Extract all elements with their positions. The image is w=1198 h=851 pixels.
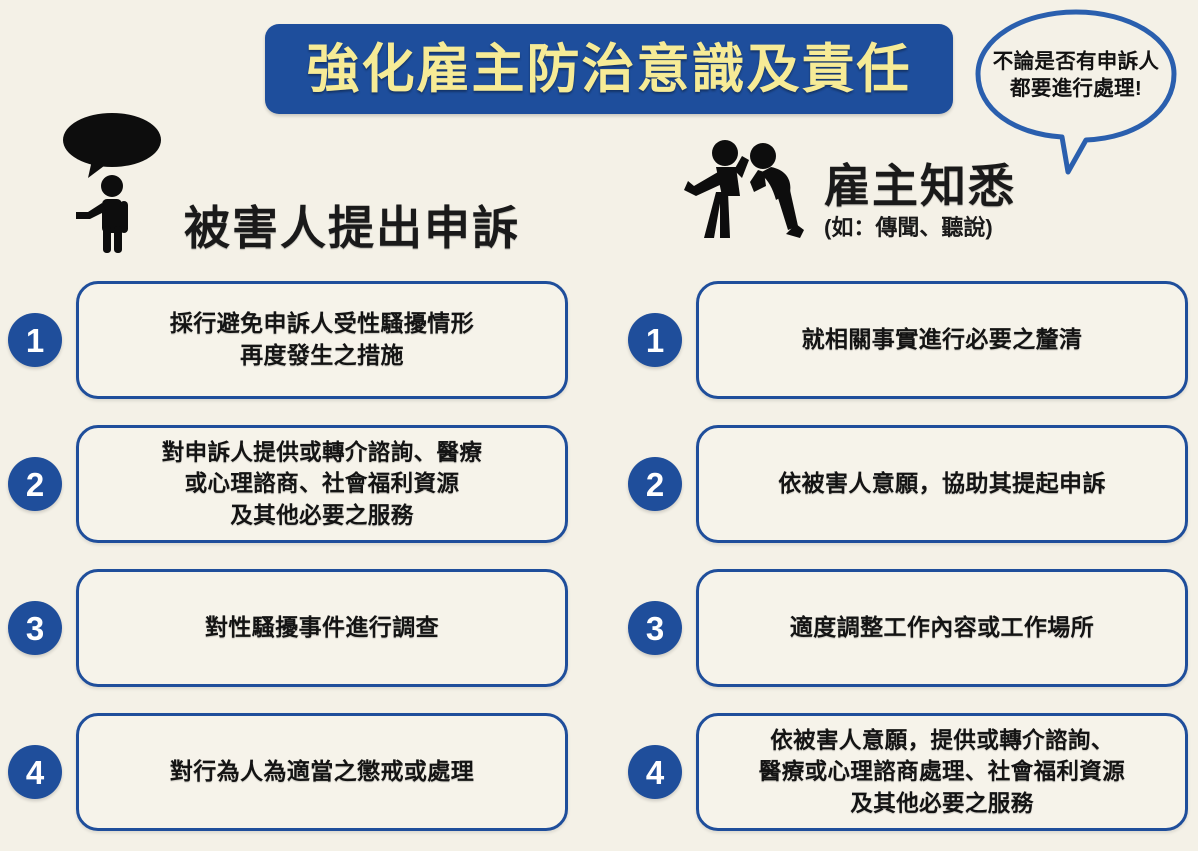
step-card-line: 對申訴人提供或轉介諮詢、醫療 — [162, 437, 483, 468]
column-title: 雇主知悉 — [824, 162, 1016, 210]
step-card-line: 對性騷擾事件進行調查 — [205, 612, 439, 644]
title-banner: 強化雇主防治意識及責任 — [265, 24, 953, 114]
step-card-line: 醫療或心理諮商處理、社會福利資源 — [759, 756, 1125, 787]
list-item: 1 採行避免申訴人受性騷擾情形 再度發生之措施 — [8, 275, 568, 405]
column-items-victim-complaint: 1 採行避免申訴人受性騷擾情形 再度發生之措施 2 對申訴人提供或轉介諮詢、醫療… — [8, 275, 568, 851]
step-card-text: 對行為人為適當之懲戒或處理 — [170, 756, 474, 788]
step-badge: 3 — [628, 601, 682, 655]
step-card-line: 及其他必要之服務 — [759, 788, 1125, 819]
step-card-text: 採行避免申訴人受性騷擾情形 再度發生之措施 — [170, 308, 474, 371]
person-speaking-icon — [58, 108, 166, 258]
step-card-line: 及其他必要之服務 — [162, 500, 483, 531]
step-card: 對申訴人提供或轉介諮詢、醫療 或心理諮商、社會福利資源 及其他必要之服務 — [76, 425, 568, 543]
step-badge: 4 — [628, 745, 682, 799]
step-badge: 1 — [628, 313, 682, 367]
step-badge: 1 — [8, 313, 62, 367]
page-title: 強化雇主防治意識及責任 — [307, 43, 912, 96]
step-card-line: 就相關事實進行必要之釐清 — [802, 324, 1083, 356]
step-card: 就相關事實進行必要之釐清 — [696, 281, 1188, 399]
step-card-line: 依被害人意願，提供或轉介諮詢、 — [759, 725, 1125, 756]
column-header-labels: 被害人提出申訴 — [184, 204, 520, 258]
column-title: 被害人提出申訴 — [184, 204, 520, 252]
step-card-line: 或心理諮商、社會福利資源 — [162, 468, 483, 499]
step-card-line: 適度調整工作內容或工作場所 — [790, 612, 1094, 644]
step-card-text: 對性騷擾事件進行調查 — [205, 612, 439, 644]
column-header-employer-awareness: 雇主知悉 (如：傳聞、聽說) — [678, 134, 1016, 247]
step-badge: 4 — [8, 745, 62, 799]
callout-text: 不論是否有申訴人 都要進行處理! — [976, 48, 1176, 103]
list-item: 4 依被害人意願，提供或轉介諮詢、 醫療或心理諮商處理、社會福利資源 及其他必要… — [628, 707, 1188, 837]
infographic-poster: 強化雇主防治意識及責任 不論是否有申訴人 都要進行處理! 被害人提出 — [0, 0, 1198, 846]
callout-line-2: 都要進行處理! — [976, 75, 1176, 102]
column-subtitle: (如：傳聞、聽說) — [824, 215, 1016, 241]
step-card: 依被害人意願，提供或轉介諮詢、 醫療或心理諮商處理、社會福利資源 及其他必要之服… — [696, 713, 1188, 831]
step-card-text: 依被害人意願，協助其提起申訴 — [778, 468, 1106, 500]
step-card: 採行避免申訴人受性騷擾情形 再度發生之措施 — [76, 281, 568, 399]
column-header-victim-complaint: 被害人提出申訴 — [58, 108, 520, 258]
step-card: 對性騷擾事件進行調查 — [76, 569, 568, 687]
list-item: 3 對性騷擾事件進行調查 — [8, 563, 568, 693]
step-card-line: 對行為人為適當之懲戒或處理 — [170, 756, 474, 788]
list-item: 3 適度調整工作內容或工作場所 — [628, 563, 1188, 693]
step-card: 依被害人意願，協助其提起申訴 — [696, 425, 1188, 543]
list-item: 4 對行為人為適當之懲戒或處理 — [8, 707, 568, 837]
list-item: 2 對申訴人提供或轉介諮詢、醫療 或心理諮商、社會福利資源 及其他必要之服務 — [8, 419, 568, 549]
step-badge: 2 — [628, 457, 682, 511]
column-header-labels: 雇主知悉 (如：傳聞、聽說) — [824, 162, 1016, 247]
list-item: 1 就相關事實進行必要之釐清 — [628, 275, 1188, 405]
step-card-text: 對申訴人提供或轉介諮詢、醫療 或心理諮商、社會福利資源 及其他必要之服務 — [162, 437, 483, 530]
column-items-employer-awareness: 1 就相關事實進行必要之釐清 2 依被害人意願，協助其提起申訴 3 適度調整工作… — [628, 275, 1188, 851]
step-card: 對行為人為適當之懲戒或處理 — [76, 713, 568, 831]
callout-line-1: 不論是否有申訴人 — [976, 48, 1176, 75]
step-card-text: 適度調整工作內容或工作場所 — [790, 612, 1094, 644]
two-people-whispering-icon — [678, 134, 806, 247]
step-card-text: 依被害人意願，提供或轉介諮詢、 醫療或心理諮商處理、社會福利資源 及其他必要之服… — [759, 725, 1125, 818]
step-card-line: 依被害人意願，協助其提起申訴 — [778, 468, 1106, 500]
step-badge: 2 — [8, 457, 62, 511]
step-badge: 3 — [8, 601, 62, 655]
step-card-line: 再度發生之措施 — [170, 340, 474, 372]
step-card: 適度調整工作內容或工作場所 — [696, 569, 1188, 687]
step-card-text: 就相關事實進行必要之釐清 — [802, 324, 1083, 356]
list-item: 2 依被害人意願，協助其提起申訴 — [628, 419, 1188, 549]
step-card-line: 採行避免申訴人受性騷擾情形 — [170, 308, 474, 340]
